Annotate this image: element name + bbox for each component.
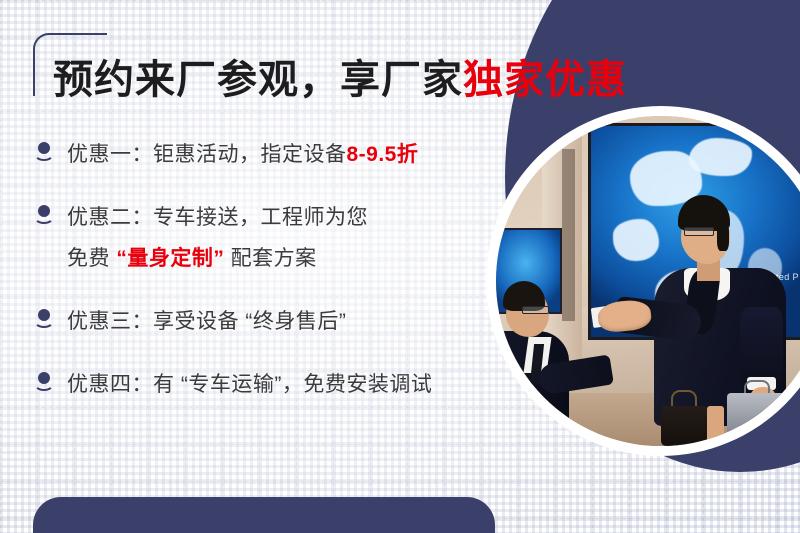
benefit-highlight: “量身定制” <box>116 247 224 270</box>
photo-ring: ing United ited P <box>486 106 800 456</box>
benefit-text: 优惠三：享受设备 “终身售后” <box>67 301 346 342</box>
list-item: 优惠四：有 “专车运输”，免费安装调试 <box>33 364 493 405</box>
page-title: 预约来厂参观，享厂家独家优惠 <box>53 47 627 105</box>
dot-arc-bullet-icon <box>33 203 55 225</box>
right-person-sideburn <box>717 222 729 252</box>
promo-banner: ing United ited P <box>0 0 800 533</box>
map-landmass <box>613 219 660 261</box>
right-person-leg <box>707 406 724 446</box>
benefit-text: 优惠二：专车接送，工程师为您 免费 “量身定制” 配套方案 <box>67 197 368 279</box>
dot-arc-bullet-icon <box>33 307 55 329</box>
benefit-text: 优惠四：有 “专车运输”，免费安装调试 <box>67 364 432 405</box>
dot-arc-bullet-icon <box>33 140 55 162</box>
benefit-text: 优惠一：钜惠活动，指定设备8-9.5折 <box>67 134 418 175</box>
page-title-plain: 预约来厂参观，享厂家 <box>53 58 463 102</box>
left-person-glasses <box>522 306 548 315</box>
benefit-label: 优惠一：钜惠活动，指定设备 <box>67 143 347 166</box>
bottom-accent-bar <box>33 497 495 533</box>
list-item: 优惠一：钜惠活动，指定设备8-9.5折 <box>33 134 493 175</box>
benefit-label-tail: 配套方案 <box>224 247 316 270</box>
right-person-glasses <box>684 227 714 237</box>
benefit-label: 优惠四：有 “专车运输”，免费安装调试 <box>67 373 432 396</box>
handbag <box>661 406 707 446</box>
benefit-label: 优惠三：享受设备 “终身售后” <box>67 310 346 333</box>
photo-scene: ing United ited P <box>496 116 800 446</box>
benefit-highlight: 8-9.5折 <box>347 143 419 166</box>
handshake-photo: ing United ited P <box>496 116 800 446</box>
pillar-shadow <box>562 149 575 321</box>
page-title-accent: 独家优惠 <box>463 58 627 102</box>
list-item: 优惠二：专车接送，工程师为您 免费 “量身定制” 配套方案 <box>33 197 493 279</box>
briefcase <box>727 393 786 436</box>
list-item: 优惠三：享受设备 “终身售后” <box>33 301 493 342</box>
benefit-list: 优惠一：钜惠活动，指定设备8-9.5折 优惠二：专车接送，工程师为您 免费 “量… <box>33 134 493 427</box>
map-landmass <box>689 138 753 176</box>
dot-arc-bullet-icon <box>33 370 55 392</box>
